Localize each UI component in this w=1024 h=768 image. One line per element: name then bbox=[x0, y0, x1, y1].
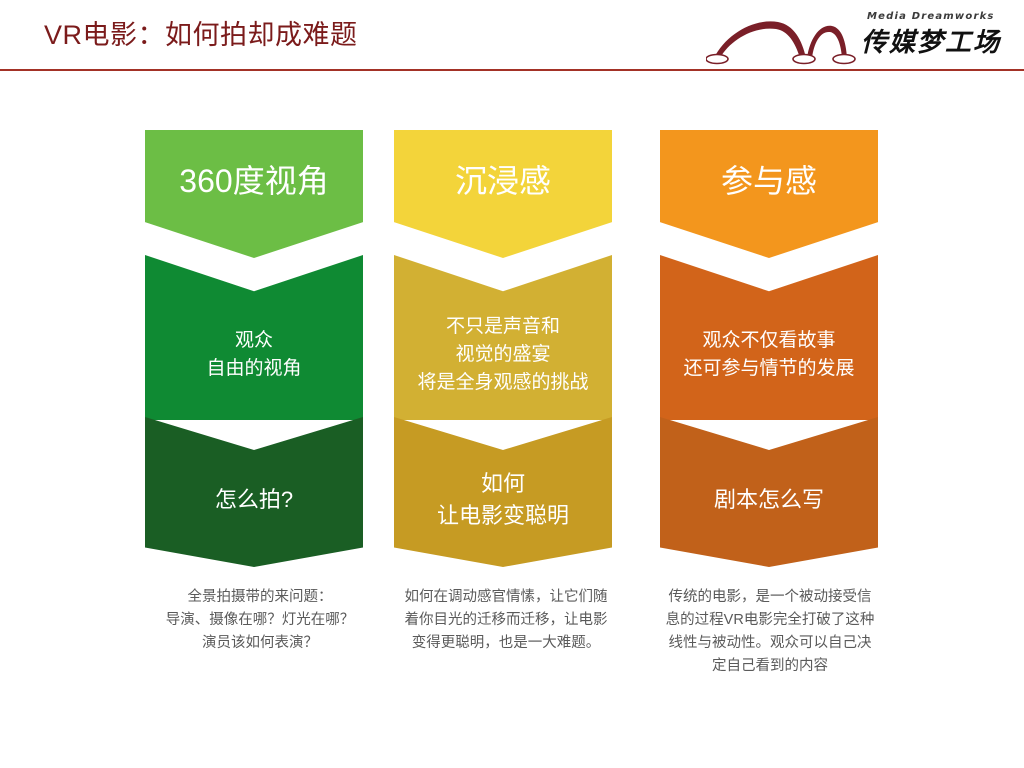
chevron-mid-immersion: 不只是声音和视觉的盛宴将是全身观感的挑战 bbox=[394, 255, 612, 420]
brand-logo: Media Dreamworks 传媒梦工场 bbox=[706, 8, 1006, 66]
chevron-head-label: 参与感 bbox=[721, 160, 817, 202]
chevron-head-participation: 参与感 bbox=[660, 130, 878, 258]
logo-tagline: Media Dreamworks bbox=[861, 10, 1006, 24]
chevron-head-label: 360度视角 bbox=[179, 160, 328, 202]
chevron-mid-label: 观众自由的视角 bbox=[206, 327, 301, 383]
chevron-head-label: 沉浸感 bbox=[455, 160, 551, 202]
caption-immersion: 如何在调动感官情愫，让它们随着你目光的迁移而迁移，让电影变得更聪明，也是一大难题… bbox=[386, 586, 626, 655]
chevron-column-360: 360度视角 观众自由的视角 怎么拍? bbox=[145, 130, 363, 567]
chevron-mid-participation: 观众不仅看故事还可参与情节的发展 bbox=[660, 255, 878, 420]
chevron-tail-immersion: 如何让电影变聪明 bbox=[394, 417, 612, 567]
caption-360: 全景拍摄带的来问题：导演、摄像在哪？灯光在哪？演员该如何表演？ bbox=[145, 586, 375, 655]
chevron-mid-label: 不只是声音和视觉的盛宴将是全身观感的挑战 bbox=[417, 313, 588, 397]
chevron-mid-360: 观众自由的视角 bbox=[145, 255, 363, 420]
logo-text-block: Media Dreamworks 传媒梦工场 bbox=[861, 10, 1006, 64]
header-divider-rule bbox=[0, 69, 1024, 71]
chevron-column-participation: 参与感 观众不仅看故事还可参与情节的发展 剧本怎么写 bbox=[660, 130, 878, 567]
chevron-column-immersion: 沉浸感 不只是声音和视觉的盛宴将是全身观感的挑战 如何让电影变聪明 bbox=[394, 130, 612, 567]
chevron-tail-label: 怎么拍? bbox=[215, 484, 293, 516]
chevron-head-360: 360度视角 bbox=[145, 130, 363, 258]
chevron-mid-label: 观众不仅看故事还可参与情节的发展 bbox=[683, 327, 854, 383]
chevron-tail-360: 怎么拍? bbox=[145, 417, 363, 567]
slide-header: VR电影：如何拍却成难题 Media Dreamworks 传媒梦工场 bbox=[0, 0, 1024, 71]
chevron-tail-participation: 剧本怎么写 bbox=[660, 417, 878, 567]
caption-row: 全景拍摄带的来问题：导演、摄像在哪？灯光在哪？演员该如何表演？ 如何在调动感官情… bbox=[0, 586, 1024, 696]
logo-name: 传媒梦工场 bbox=[861, 24, 1006, 60]
page-title: VR电影：如何拍却成难题 bbox=[44, 17, 358, 53]
chevron-tail-label: 剧本怎么写 bbox=[714, 484, 824, 516]
chevron-head-immersion: 沉浸感 bbox=[394, 130, 612, 258]
chevron-diagram: 360度视角 观众自由的视角 怎么拍? 沉浸感 不只是声音和视觉的盛宴将是全身观… bbox=[0, 130, 1024, 560]
caption-participation: 传统的电影，是一个被动接受信息的过程VR电影完全打破了这种线性与被动性。观众可以… bbox=[648, 586, 892, 678]
chevron-tail-label: 如何让电影变聪明 bbox=[437, 468, 569, 532]
arch-bridge-logo-icon bbox=[706, 12, 858, 66]
